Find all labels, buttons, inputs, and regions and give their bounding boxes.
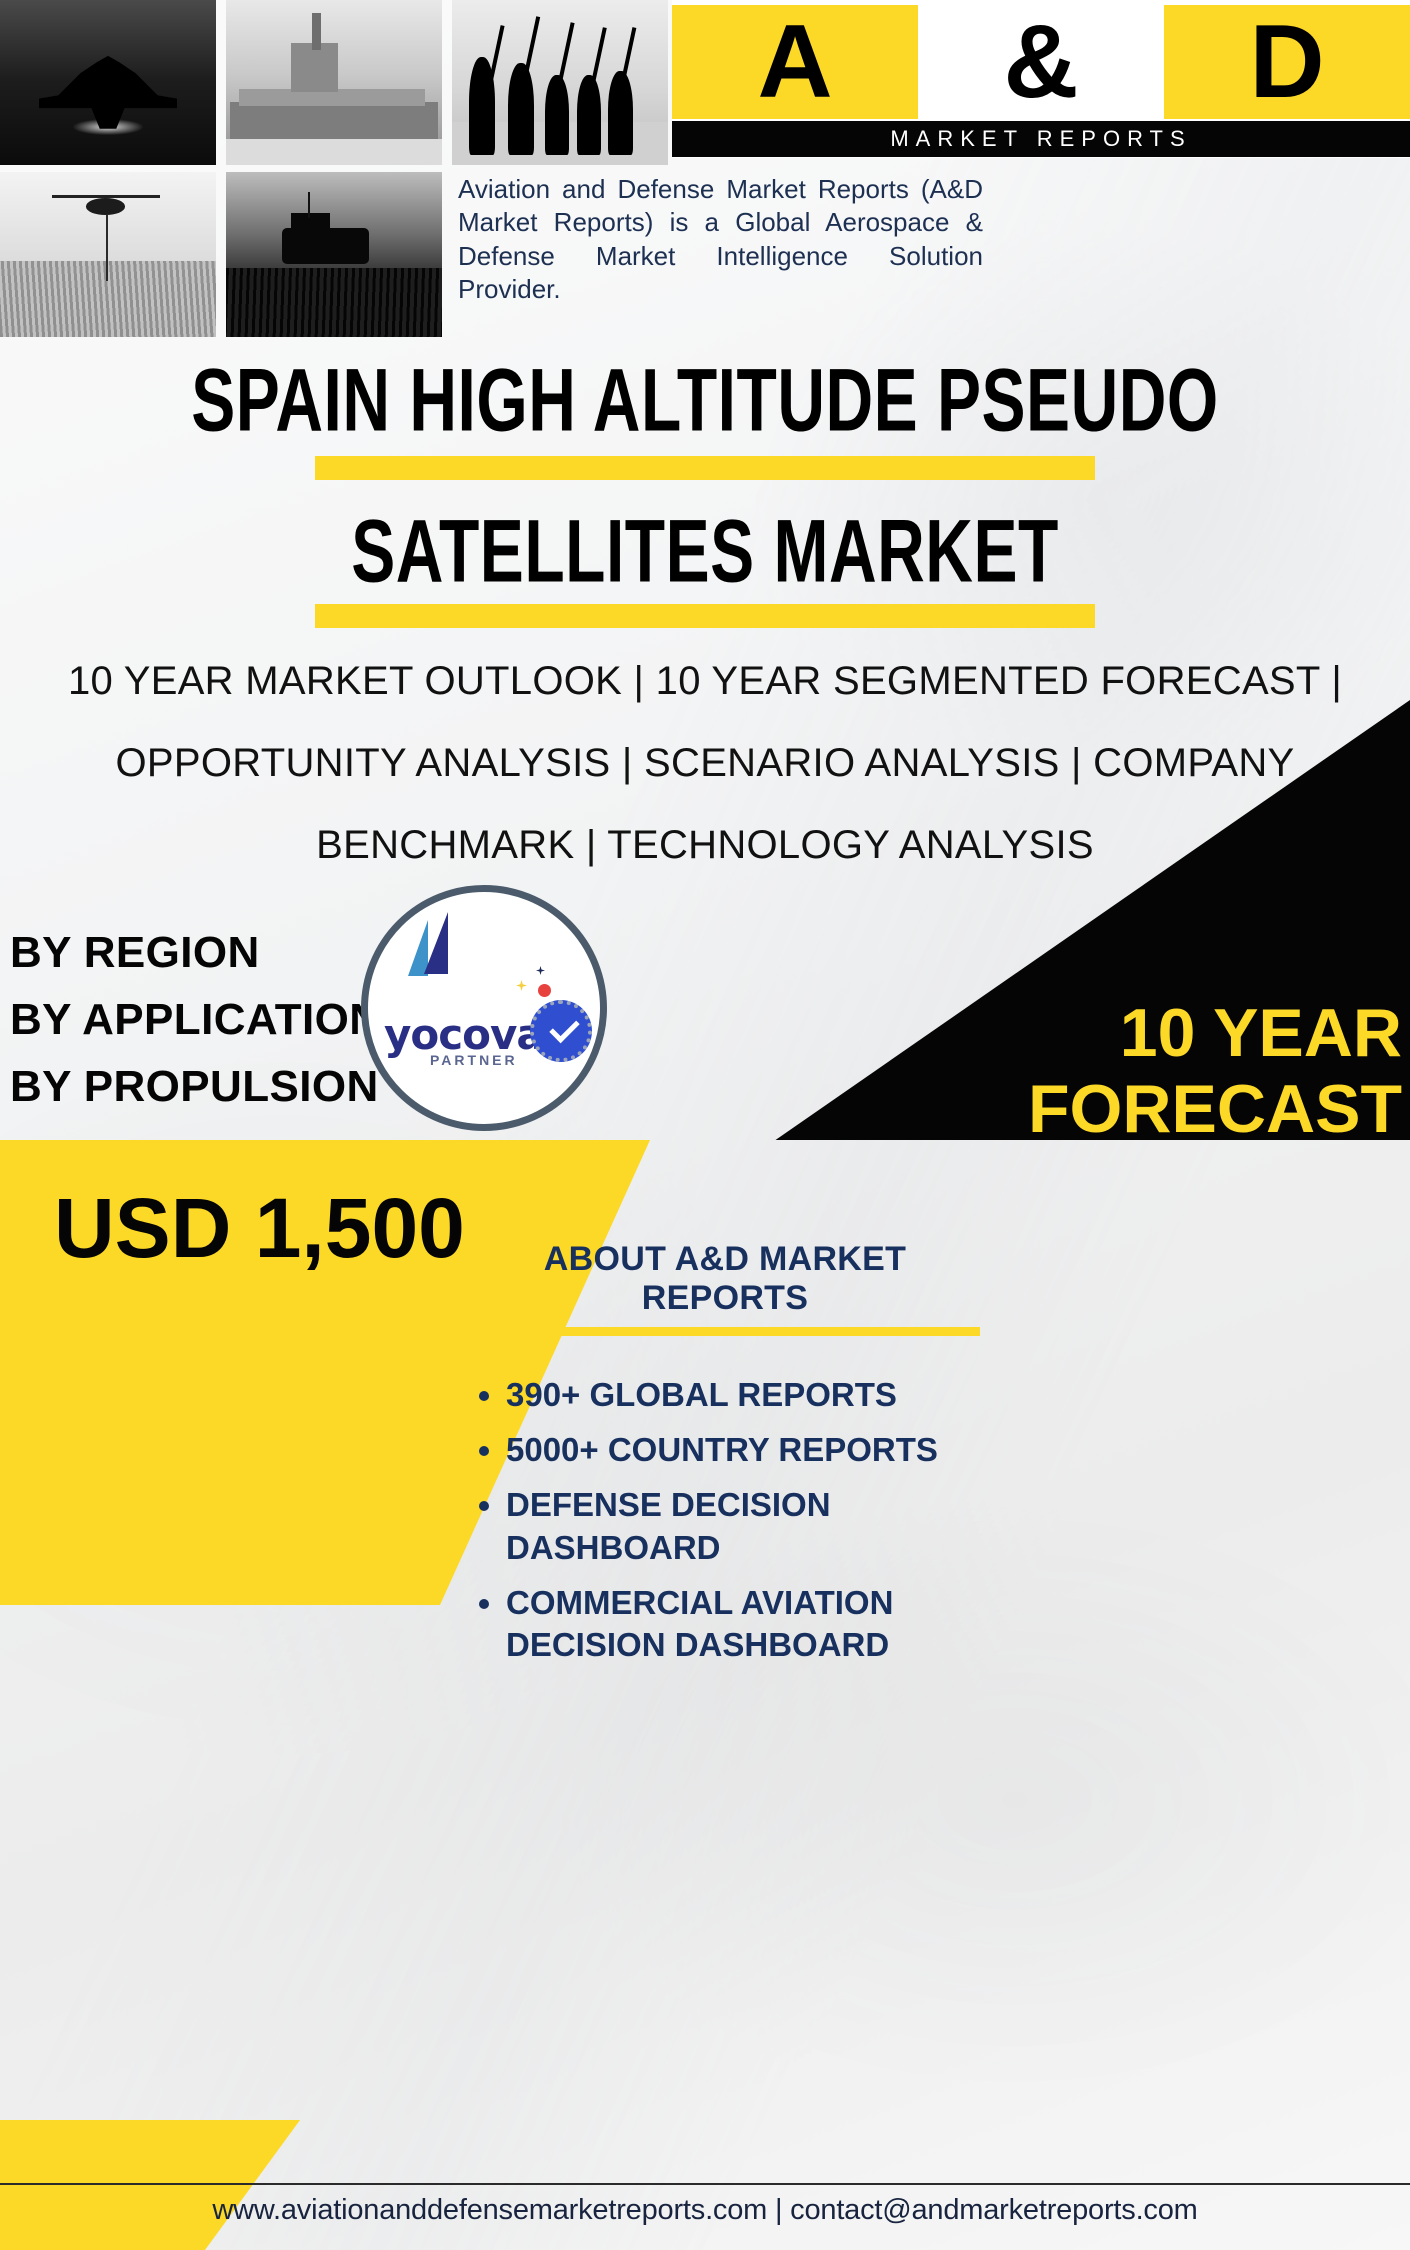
poster-root: A & D MARKET REPORTS Aviation and Defens… xyxy=(0,0,1410,2250)
about-underline xyxy=(468,1327,980,1336)
logo-letter-d: D xyxy=(1164,5,1410,119)
soldiers-silhouette-photo xyxy=(452,0,668,165)
soldier-5 xyxy=(608,71,633,155)
about-section: ABOUT A&D MARKET REPORTS 390+ GLOBAL REP… xyxy=(460,1240,990,1679)
yocova-partner-badge: yocova PARTNER xyxy=(361,885,607,1131)
vehicle-antenna xyxy=(308,192,310,218)
carrier-water xyxy=(226,139,442,165)
footer-yellow-wedge xyxy=(0,2120,300,2250)
carrier-mast xyxy=(312,13,321,49)
page-title-line-2: SATELLITES MARKET xyxy=(0,506,1410,597)
helicopter-field xyxy=(0,261,216,337)
vehicle-body xyxy=(282,228,368,264)
vehicle-cab xyxy=(291,213,330,233)
carrier-hull xyxy=(230,102,437,138)
report-scope-list: 10 YEAR MARKET OUTLOOK | 10 YEAR SEGMENT… xyxy=(30,640,1380,886)
title-rule-top xyxy=(315,456,1095,480)
soldier-4 xyxy=(577,75,601,155)
page-title-line-1: SPAIN HIGH ALTITUDE PSEUDO xyxy=(0,355,1410,446)
brand-logo: A & D MARKET REPORTS xyxy=(672,0,1410,158)
report-title: SPAIN HIGH ALTITUDE PSEUDO SATELLITES MA… xyxy=(0,355,1410,628)
aircraft-carrier-photo xyxy=(226,0,442,165)
yocova-triangle-dark-icon xyxy=(424,912,448,974)
about-heading: ABOUT A&D MARKET REPORTS xyxy=(460,1240,990,1318)
footer-divider xyxy=(0,2183,1410,2185)
title-rule-bottom xyxy=(315,604,1095,628)
forecast-badge: 10 YEAR FORECAST xyxy=(872,995,1402,1147)
about-bullet-list: 390+ GLOBAL REPORTS 5000+ COUNTRY REPORT… xyxy=(460,1374,990,1667)
helicopter-rope xyxy=(106,215,108,281)
yocova-partner-label: PARTNER xyxy=(430,1052,518,1068)
helicopter-photo xyxy=(0,172,216,337)
logo-letter-ampersand: & xyxy=(918,5,1164,119)
about-item-commercial-dashboard: COMMERCIAL AVIATION DECISION DASHBOARD xyxy=(506,1582,990,1668)
about-item-global-reports: 390+ GLOBAL REPORTS xyxy=(506,1374,990,1417)
helicopter-body xyxy=(86,198,125,215)
sparkle-yellow-icon xyxy=(516,980,527,991)
soldier-3 xyxy=(545,75,569,155)
forecast-line-2: FORECAST xyxy=(872,1071,1402,1147)
price-amount: USD 1,500 xyxy=(54,1180,514,1277)
about-item-country-reports: 5000+ COUNTRY REPORTS xyxy=(506,1429,990,1472)
forecast-line-1: 10 YEAR xyxy=(872,995,1402,1071)
verified-check-icon xyxy=(530,1000,592,1062)
logo-tagline-bar: MARKET REPORTS xyxy=(672,121,1410,157)
logo-tagline: MARKET REPORTS xyxy=(890,126,1191,152)
military-vehicle-photo xyxy=(226,172,442,337)
carrier-tower xyxy=(291,43,339,93)
vehicle-field xyxy=(226,268,442,337)
dot-red-icon xyxy=(538,984,551,997)
logo-letter-a: A xyxy=(672,5,918,119)
sparkle-navy-icon xyxy=(536,966,545,975)
footer-contact: www.aviationanddefensemarketreports.com … xyxy=(0,2194,1410,2227)
company-description: Aviation and Defense Market Reports (A&D… xyxy=(458,173,983,306)
about-item-defense-dashboard: DEFENSE DECISION DASHBOARD xyxy=(506,1484,990,1570)
soldier-2 xyxy=(508,63,534,155)
logo-letters: A & D xyxy=(672,5,1410,119)
fighter-jet-photo xyxy=(0,0,216,165)
